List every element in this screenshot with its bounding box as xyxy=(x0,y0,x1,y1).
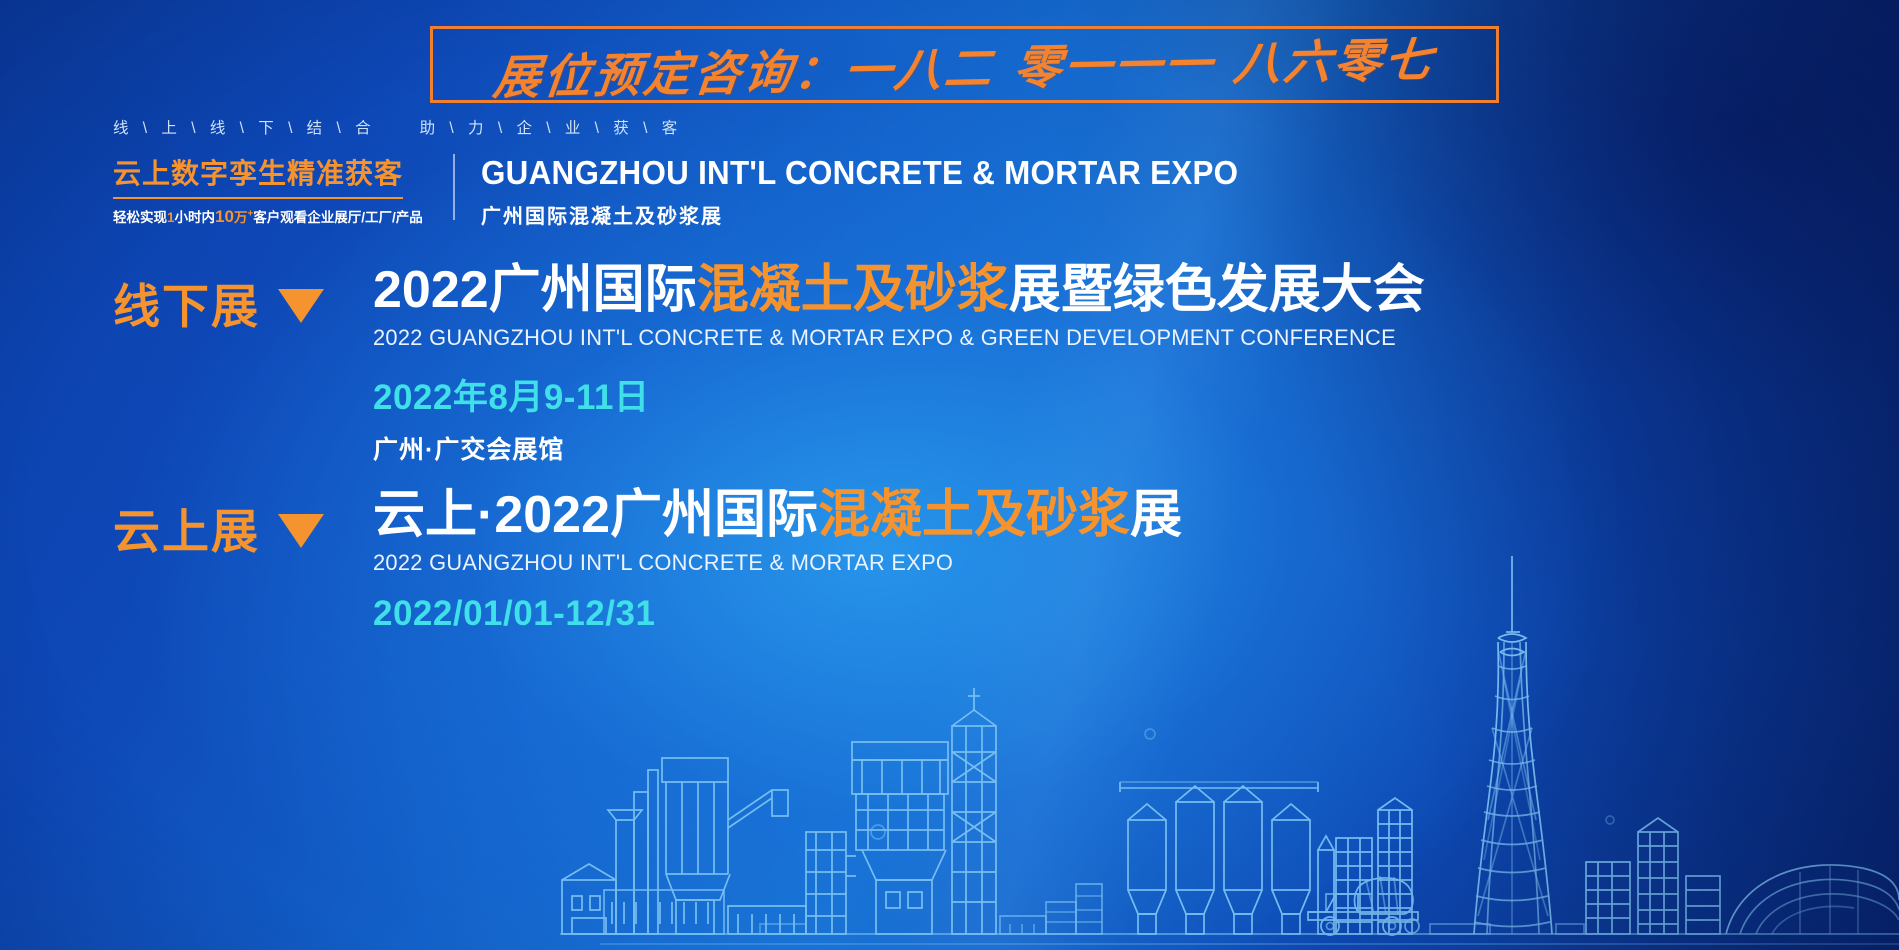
event-offline-date: 2022年8月9-11日 xyxy=(373,369,1428,420)
logo-divider xyxy=(453,154,455,220)
title-post: 展暨绿色发展大会 xyxy=(1009,261,1425,319)
expo-name-en: GUANGZHOU INT'L CONCRETE & MORTAR EXPO xyxy=(481,154,1238,192)
fine-count-number: 10 xyxy=(215,207,234,226)
event-offline-badge-label: 线下展 xyxy=(113,268,260,337)
event-offline: 线下展 2022广州国际混凝土及砂浆展暨绿色发展大会 2022 GUANGZHO… xyxy=(113,262,1428,466)
booking-phone-text: 展位预定咨询：一八二 零一一一 八六零七 xyxy=(491,21,1439,108)
event-online: 云上展 云上·2022广州国际混凝土及砂浆展 2022 GUANGZHOU IN… xyxy=(113,487,1182,634)
booking-phone-box: 展位预定咨询：一八二 零一一一 八六零七 xyxy=(430,26,1499,103)
vignette-overlay xyxy=(0,0,1899,950)
fine-hour-unit: 小时内 xyxy=(175,210,216,225)
logo-lockup: 云上数字孪生精准获客 轻松实现1小时内10万+客户观看企业展厅/工厂/产品 GU… xyxy=(113,152,1278,229)
title-pre: 云上·2022广州国际 xyxy=(373,486,818,544)
fine-count-unit: 万 xyxy=(234,210,248,225)
expo-name-cn: 广州国际混凝土及砂浆展 xyxy=(481,200,1278,229)
tagline-help-business: 助 \ 力 \ 企 \ 业 \ 获 \ 客 xyxy=(420,116,683,138)
event-offline-title: 2022广州国际混凝土及砂浆展暨绿色发展大会 xyxy=(373,262,1428,318)
event-online-title: 云上·2022广州国际混凝土及砂浆展 xyxy=(373,487,1182,543)
event-offline-subtitle: 2022 GUANGZHOU INT'L CONCRETE & MORTAR E… xyxy=(373,325,1396,351)
title-post: 展 xyxy=(1130,486,1182,544)
event-online-subtitle: 2022 GUANGZHOU INT'L CONCRETE & MORTAR E… xyxy=(373,550,1158,576)
banner-canvas: 展位预定咨询：一八二 零一一一 八六零七 线 \ 上 \ 线 \ 下 \ 结 \… xyxy=(0,0,1899,950)
tagline-row: 线 \ 上 \ 线 \ 下 \ 结 \ 合 助 \ 力 \ 企 \ 业 \ 获 … xyxy=(113,116,682,138)
event-online-badge-label: 云上展 xyxy=(113,493,260,562)
triangle-down-icon xyxy=(278,514,324,548)
event-online-badge: 云上展 xyxy=(113,487,373,562)
logo-left-block: 云上数字孪生精准获客 轻松实现1小时内10万+客户观看企业展厅/工厂/产品 xyxy=(113,152,433,227)
title-pre: 2022广州国际 xyxy=(373,261,697,319)
fine-tail: 客户观看企业展厅/工厂/产品 xyxy=(253,210,423,225)
event-online-body: 云上·2022广州国际混凝土及砂浆展 2022 GUANGZHOU INT'L … xyxy=(373,487,1182,634)
logo-right-block: GUANGZHOU INT'L CONCRETE & MORTAR EXPO 广… xyxy=(481,152,1278,229)
tagline-online-offline: 线 \ 上 \ 线 \ 下 \ 结 \ 合 xyxy=(113,116,376,138)
logo-fine-print: 轻松实现1小时内10万+客户观看企业展厅/工厂/产品 xyxy=(113,206,433,227)
fine-hour-number: 1 xyxy=(167,210,175,225)
fine-prefix: 轻松实现 xyxy=(113,210,167,225)
event-offline-badge: 线下展 xyxy=(113,262,373,337)
title-highlight: 混凝土及砂浆 xyxy=(818,486,1130,544)
event-offline-venue: 广州·广交会展馆 xyxy=(373,430,1428,466)
event-online-date: 2022/01/01-12/31 xyxy=(373,594,1182,634)
event-offline-body: 2022广州国际混凝土及砂浆展暨绿色发展大会 2022 GUANGZHOU IN… xyxy=(373,262,1428,466)
title-highlight: 混凝土及砂浆 xyxy=(697,261,1009,319)
triangle-down-icon xyxy=(278,289,324,323)
logo-slogan-cn: 云上数字孪生精准获客 xyxy=(113,152,403,199)
